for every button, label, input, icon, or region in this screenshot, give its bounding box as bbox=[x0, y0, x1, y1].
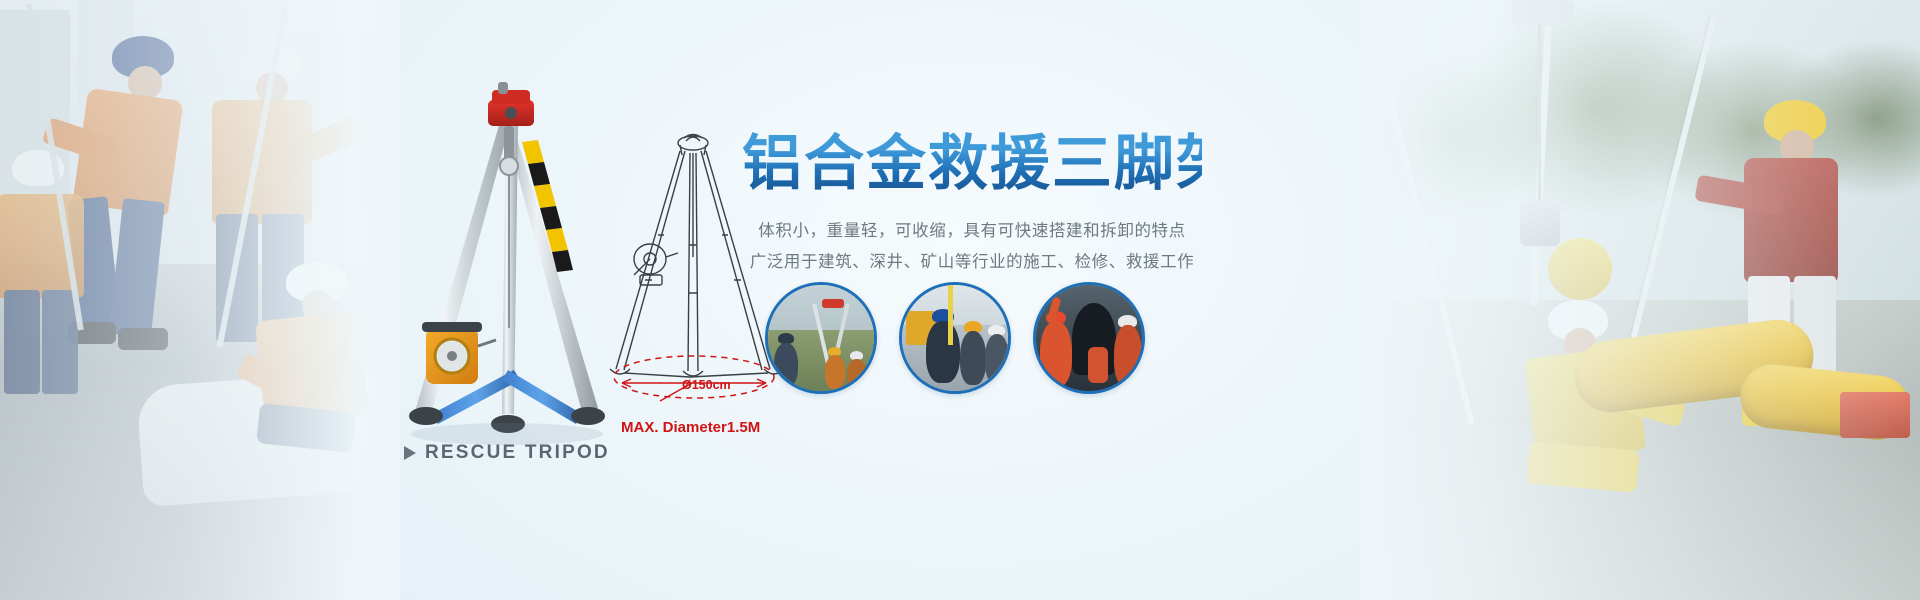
rescue-worker-figure bbox=[0, 150, 100, 400]
right-scene bbox=[1360, 0, 1920, 600]
left-photo-collage bbox=[0, 0, 400, 600]
rescue-worker-figure bbox=[238, 262, 378, 492]
subtitle-line-2: 广泛用于建筑、深井、矿山等行业的施工、检修、救援工作 bbox=[742, 246, 1202, 278]
diameter-label: Ø150cm bbox=[682, 378, 731, 392]
ventilation-hose bbox=[1571, 316, 1818, 417]
tripod-leg bbox=[1609, 16, 1716, 425]
building bbox=[300, 30, 390, 210]
product-caption: RESCUE TRIPOD bbox=[404, 442, 610, 464]
winch bbox=[1520, 200, 1560, 246]
tripod-illustration bbox=[392, 78, 622, 458]
subtitle-line-1: 体积小，重量轻，可收缩，具有可快速搭建和拆卸的特点 bbox=[742, 215, 1202, 247]
building bbox=[78, 0, 133, 150]
thumbnail-gallery bbox=[765, 282, 1145, 394]
road-surface bbox=[1360, 300, 1920, 600]
rescue-worker-figure bbox=[1702, 100, 1852, 430]
thumbnail-image bbox=[1036, 285, 1142, 391]
tripod-leg bbox=[217, 3, 290, 348]
sky bbox=[0, 0, 400, 276]
right-photo bbox=[1360, 0, 1920, 600]
thumbnail-item[interactable] bbox=[1033, 282, 1145, 394]
product-banner: RESCUE TRIPOD bbox=[0, 0, 1920, 600]
thumbnail-image bbox=[768, 285, 874, 391]
thumbnail-image bbox=[902, 285, 1008, 391]
rescue-worker-figure bbox=[40, 36, 190, 366]
tree-line bbox=[1360, 0, 1920, 312]
tripod-leg bbox=[1530, 6, 1553, 306]
rescue-rope bbox=[1538, 24, 1541, 204]
max-diameter-label: MAX. Diameter1.5M bbox=[621, 419, 760, 436]
play-triangle-icon bbox=[404, 446, 416, 460]
product-caption-label: RESCUE TRIPOD bbox=[425, 442, 610, 464]
page-title: 铝合金救援三脚架 bbox=[742, 132, 1202, 197]
rescue-worker-figure bbox=[1512, 300, 1682, 540]
blower-unit bbox=[1548, 238, 1612, 300]
product-photo-tripod bbox=[392, 78, 622, 458]
ventilation-hose bbox=[1737, 361, 1913, 442]
subtitle-block: 体积小，重量轻，可收缩，具有可快速搭建和拆卸的特点 广泛用于建筑、深井、矿山等行… bbox=[742, 215, 1202, 278]
ground-tarp bbox=[136, 369, 400, 507]
tripod-leg bbox=[1367, 16, 1474, 425]
equipment-case bbox=[1840, 392, 1910, 438]
ground bbox=[0, 264, 400, 600]
thumbnail-item[interactable] bbox=[899, 282, 1011, 394]
left-scene bbox=[0, 0, 400, 600]
tripod-leg bbox=[26, 4, 84, 331]
building bbox=[0, 10, 70, 220]
thumbnail-item[interactable] bbox=[765, 282, 877, 394]
rescue-worker-figure bbox=[182, 44, 332, 374]
tripod-head bbox=[1512, 0, 1574, 26]
headline-block: 铝合金救援三脚架 体积小，重量轻，可收缩，具有可快速搭建和拆卸的特点 广泛用于建… bbox=[742, 132, 1202, 278]
